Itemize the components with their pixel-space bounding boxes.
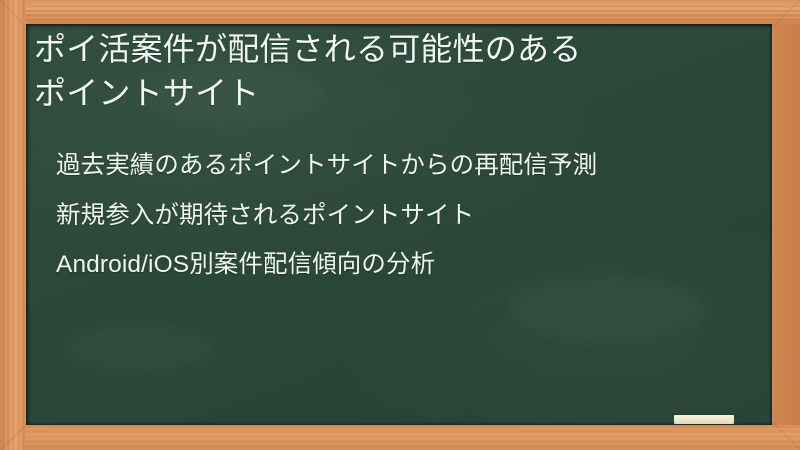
bullet-list: 過去実績のあるポイントサイトからの再配信予測 新規参入が期待されるポイントサイト… <box>56 154 756 303</box>
chalk-stick-icon <box>674 415 734 424</box>
chalkboard-surface: ポイ活案件が配信される可能性のある ポイントサイト 過去実績のあるポイントサイト… <box>26 24 772 425</box>
list-item: Android/iOS別案件配信傾向の分析 <box>56 253 756 278</box>
chalkboard-slide: ポイ活案件が配信される可能性のある ポイントサイト 過去実績のあるポイントサイト… <box>0 0 800 450</box>
board-content: ポイ活案件が配信される可能性のある ポイントサイト 過去実績のあるポイントサイト… <box>26 24 772 425</box>
list-item: 新規参入が期待されるポイントサイト <box>56 204 756 229</box>
list-item: 過去実績のあるポイントサイトからの再配信予測 <box>56 154 756 179</box>
page-title: ポイ活案件が配信される可能性のある ポイントサイト <box>34 28 754 115</box>
